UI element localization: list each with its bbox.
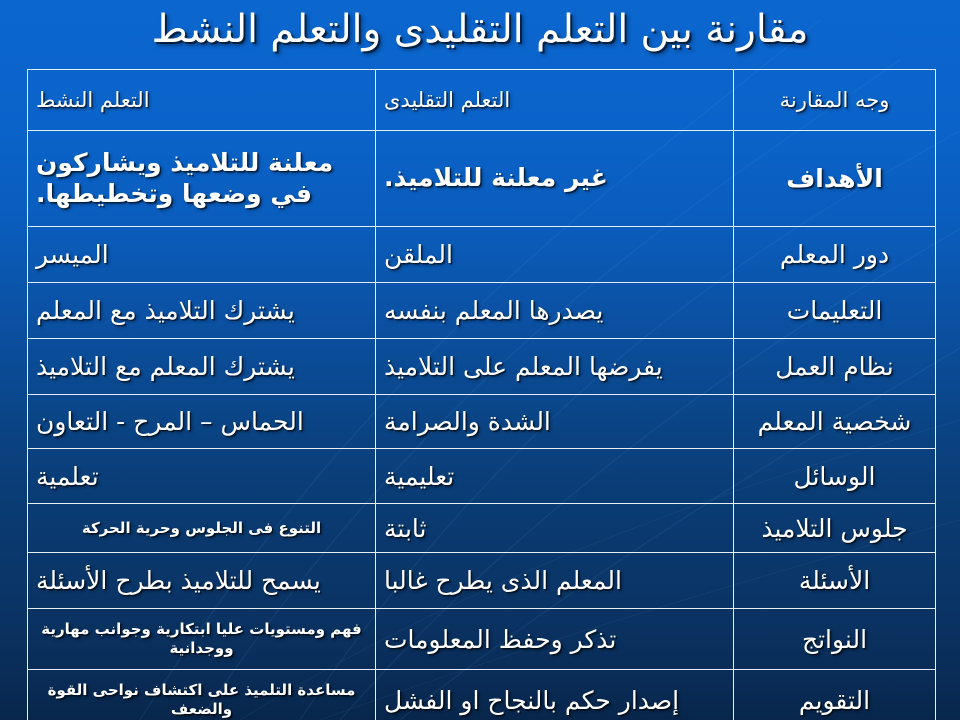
header-cell-traditional: التعلم التقليدى: [376, 70, 734, 131]
row-active-teacher-personality: الحماس – المرح - التعاون: [28, 395, 376, 449]
row-active-instructions: يشترك التلاميذ مع المعلم: [28, 283, 376, 339]
row-active-work-system: يشترك المعلم مع التلاميذ: [28, 339, 376, 395]
slide-canvas: مقارنة بين التعلم التقليدى والتعلم النشط…: [0, 0, 960, 720]
row-label-questions: الأسئلة: [734, 553, 936, 609]
row-traditional-outcomes: تذكر وحفظ المعلومات: [376, 609, 734, 670]
row-active-means: تعلمية: [28, 449, 376, 504]
row-active-evaluation: مساعدة التلميذ على اكتشاف نواحى القوة وا…: [28, 670, 376, 720]
row-label-instructions: التعليمات: [734, 283, 936, 339]
row-active-seating: التنوع فى الجلوس وحرية الحركة: [28, 504, 376, 553]
header-cell-aspect: وجه المقارنة: [734, 70, 936, 131]
table-row: الأهداف غير معلنة للتلاميذ. معلنة للتلام…: [28, 131, 936, 227]
row-traditional-instructions: يصدرها المعلم بنفسه: [376, 283, 734, 339]
comparison-table: وجه المقارنة التعلم التقليدى التعلم النش…: [27, 69, 936, 720]
table-row: شخصية المعلم الشدة والصرامة الحماس – الم…: [28, 395, 936, 449]
row-label-means: الوسائل: [734, 449, 936, 504]
row-label-evaluation: التقويم: [734, 670, 936, 720]
row-traditional-goals: غير معلنة للتلاميذ.: [376, 131, 734, 227]
row-label-work-system: نظام العمل: [734, 339, 936, 395]
table-row: نظام العمل يفرضها المعلم على التلاميذ يش…: [28, 339, 936, 395]
table-row: الأسئلة المعلم الذى يطرح غالبا يسمح للتل…: [28, 553, 936, 609]
row-active-outcomes: فهم ومستويات عليا ابتكارية وجوانب مهارية…: [28, 609, 376, 670]
row-traditional-teacher-personality: الشدة والصرامة: [376, 395, 734, 449]
comparison-table-container: وجه المقارنة التعلم التقليدى التعلم النش…: [28, 69, 936, 720]
table-row: النواتج تذكر وحفظ المعلومات فهم ومستويات…: [28, 609, 936, 670]
row-traditional-teacher-role: الملقن: [376, 227, 734, 283]
row-label-seating: جلوس التلاميذ: [734, 504, 936, 553]
row-active-questions: يسمح للتلاميذ بطرح الأسئلة: [28, 553, 376, 609]
row-label-teacher-personality: شخصية المعلم: [734, 395, 936, 449]
row-traditional-means: تعليمية: [376, 449, 734, 504]
row-traditional-work-system: يفرضها المعلم على التلاميذ: [376, 339, 734, 395]
header-cell-active: التعلم النشط: [28, 70, 376, 131]
row-label-goals: الأهداف: [734, 131, 936, 227]
table-row: الوسائل تعليمية تعلمية: [28, 449, 936, 504]
table-header-row: وجه المقارنة التعلم التقليدى التعلم النش…: [28, 70, 936, 131]
row-traditional-evaluation: إصدار حكم بالنجاح او الفشل: [376, 670, 734, 720]
row-traditional-questions: المعلم الذى يطرح غالبا: [376, 553, 734, 609]
row-traditional-seating: ثابتة: [376, 504, 734, 553]
row-active-goals: معلنة للتلاميذ ويشاركون في وضعها وتخطيطه…: [28, 131, 376, 227]
table-row: التعليمات يصدرها المعلم بنفسه يشترك التل…: [28, 283, 936, 339]
table-row: التقويم إصدار حكم بالنجاح او الفشل مساعد…: [28, 670, 936, 720]
table-row: دور المعلم الملقن الميسر: [28, 227, 936, 283]
table-row: جلوس التلاميذ ثابتة التنوع فى الجلوس وحر…: [28, 504, 936, 553]
row-label-teacher-role: دور المعلم: [734, 227, 936, 283]
row-label-outcomes: النواتج: [734, 609, 936, 670]
page-title: مقارنة بين التعلم التقليدى والتعلم النشط: [0, 2, 960, 58]
row-active-teacher-role: الميسر: [28, 227, 376, 283]
